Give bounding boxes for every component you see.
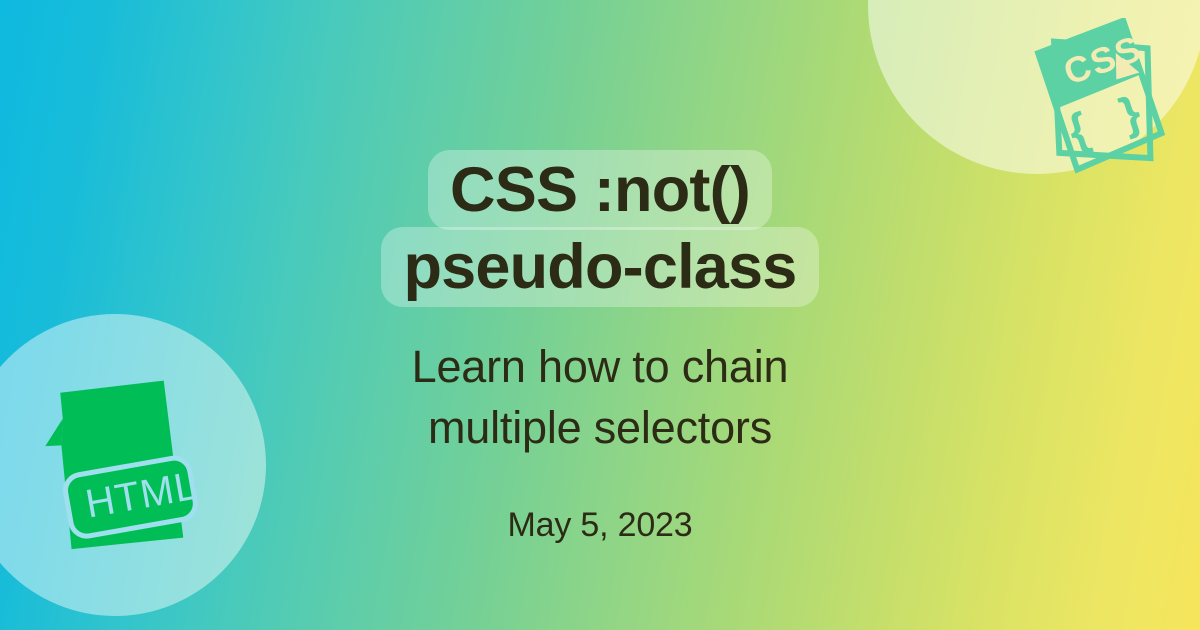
content-stack: CSS :not()pseudo-class Learn how to chai… bbox=[0, 0, 1200, 630]
page-subtitle: Learn how to chainmultiple selectors bbox=[250, 336, 950, 458]
subtitle-line-1: Learn how to chain bbox=[412, 341, 789, 392]
og-card: CSS { } HTML CSS :not()pseudo-class Lear… bbox=[0, 0, 1200, 630]
subtitle-line-2: multiple selectors bbox=[428, 402, 772, 453]
publish-date: May 5, 2023 bbox=[250, 506, 950, 545]
page-title: CSS :not()pseudo-class bbox=[280, 152, 920, 306]
title-line-2: pseudo-class bbox=[381, 227, 818, 307]
title-line-1: CSS :not() bbox=[428, 150, 772, 230]
